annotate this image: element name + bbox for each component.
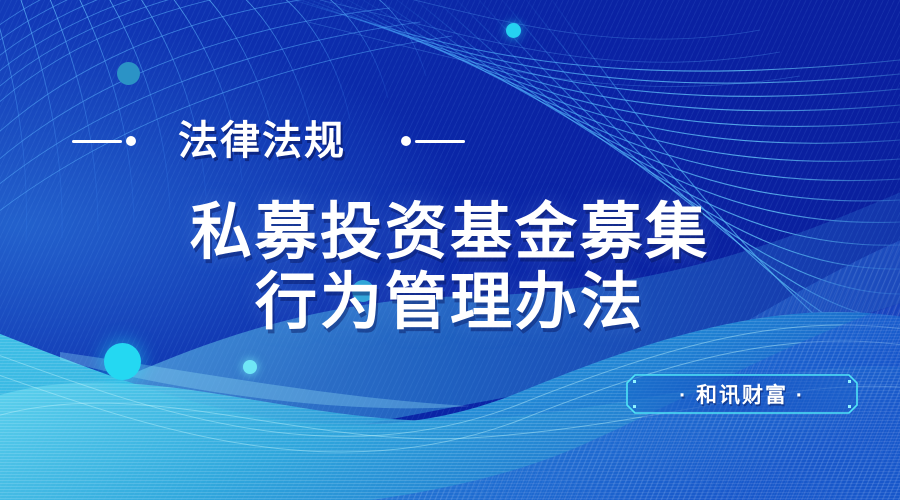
ornament-dot-right	[401, 136, 411, 146]
cyan-dot-small-decor	[506, 23, 521, 38]
brand-badge-label: · 和讯财富 ·	[626, 374, 858, 414]
cyan-dot-large-decor	[104, 343, 141, 380]
ornament-dot-left	[126, 136, 136, 146]
banner-canvas: 法律法规 私募投资基金募集 行为管理办法 · 和讯财富 ·	[0, 0, 900, 500]
dot-line-ornament-icon	[401, 136, 465, 146]
brand-badge[interactable]: · 和讯财富 ·	[626, 374, 858, 414]
line-dot-ornament-icon	[72, 136, 136, 146]
title-line-2: 行为管理办法	[0, 268, 900, 338]
ornament-line-right	[415, 140, 465, 143]
title-line-1: 私募投资基金募集	[0, 198, 900, 268]
ornament-line-left	[72, 140, 122, 143]
cyan-dot-tiny-decor	[243, 360, 257, 374]
eyebrow-row: 法律法规	[0, 112, 900, 170]
category-label: 法律法规	[178, 121, 346, 161]
main-title: 私募投资基金募集 行为管理办法	[0, 198, 900, 338]
teal-dot-decor	[117, 62, 140, 85]
